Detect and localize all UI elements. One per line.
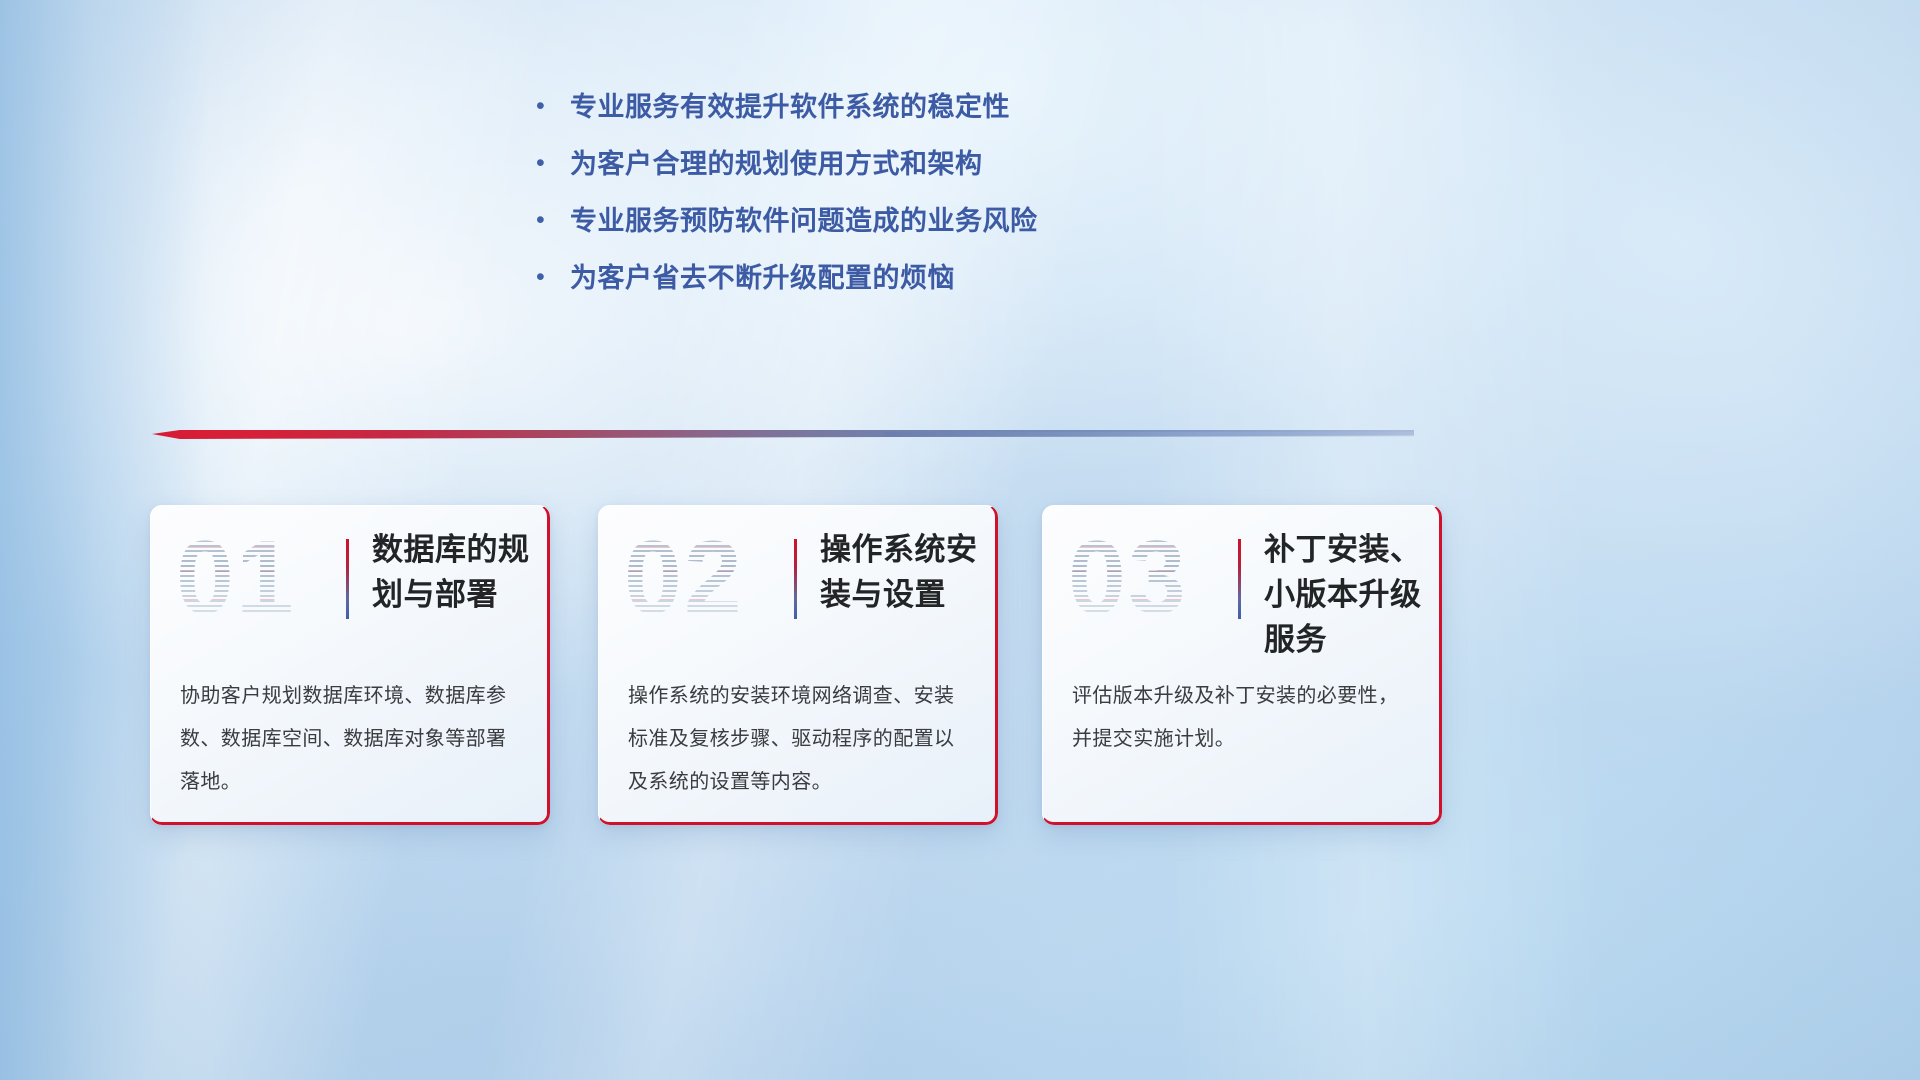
card-header: 01 01 数据库的规划与部署 — [150, 505, 550, 650]
card-number-watermark: 01 — [176, 525, 356, 631]
bullet-dot-icon: • — [536, 147, 570, 179]
card-accent-bar — [794, 539, 797, 619]
card-title: 操作系统安装与设置 — [820, 527, 984, 617]
card-number-text: 02 — [624, 520, 744, 636]
card-number-watermark: 02 — [624, 525, 804, 631]
card-number-text: 03 — [1068, 520, 1188, 636]
list-item: • 为客户合理的规划使用方式和架构 — [536, 147, 1296, 181]
card-header: 03 03 补丁安装、小版本升级服务 — [1042, 505, 1442, 650]
card-number-text: 01 — [176, 520, 296, 636]
bullet-dot-icon: • — [536, 90, 570, 122]
bullet-text: 为客户省去不断升级配置的烦恼 — [570, 261, 955, 295]
card-03[interactable]: 03 03 补丁安装、小版本升级服务 评估版本升级及补丁安装的必要性，并提交实施… — [1042, 505, 1442, 825]
card-row: 01 01 数据库的规划与部署 协助客户规划数据库环境、数据库参数、数据库空间、… — [150, 505, 1470, 845]
card-title: 数据库的规划与部署 — [372, 527, 536, 617]
list-item: • 专业服务预防软件问题造成的业务风险 — [536, 204, 1296, 238]
bullet-text: 为客户合理的规划使用方式和架构 — [570, 147, 983, 181]
card-accent-bar — [346, 539, 349, 619]
bullet-dot-icon: • — [536, 204, 570, 236]
card-header: 02 02 操作系统安装与设置 — [598, 505, 998, 650]
card-body-text: 操作系统的安装环境网络调查、安装标准及复核步骤、驱动程序的配置以及系统的设置等内… — [628, 675, 972, 804]
bullet-text: 专业服务有效提升软件系统的稳定性 — [570, 90, 1010, 124]
card-02[interactable]: 02 02 操作系统安装与设置 操作系统的安装环境网络调查、安装标准及复核步骤、… — [598, 505, 998, 825]
card-number-watermark: 03 — [1068, 525, 1248, 631]
bullet-text: 专业服务预防软件问题造成的业务风险 — [570, 204, 1038, 238]
card-accent-bar — [1238, 539, 1241, 619]
section-divider — [152, 424, 1414, 446]
card-01[interactable]: 01 01 数据库的规划与部署 协助客户规划数据库环境、数据库参数、数据库空间、… — [150, 505, 550, 825]
card-body-text: 协助客户规划数据库环境、数据库参数、数据库空间、数据库对象等部署落地。 — [180, 675, 524, 804]
bullet-dot-icon: • — [536, 261, 570, 293]
divider-tail — [884, 432, 1414, 437]
card-title: 补丁安装、小版本升级服务 — [1264, 527, 1428, 662]
list-item: • 专业服务有效提升软件系统的稳定性 — [536, 90, 1296, 124]
list-item: • 为客户省去不断升级配置的烦恼 — [536, 261, 1296, 295]
bullet-list: • 专业服务有效提升软件系统的稳定性 • 为客户合理的规划使用方式和架构 • 专… — [536, 90, 1296, 318]
card-body-text: 评估版本升级及补丁安装的必要性，并提交实施计划。 — [1072, 675, 1416, 761]
